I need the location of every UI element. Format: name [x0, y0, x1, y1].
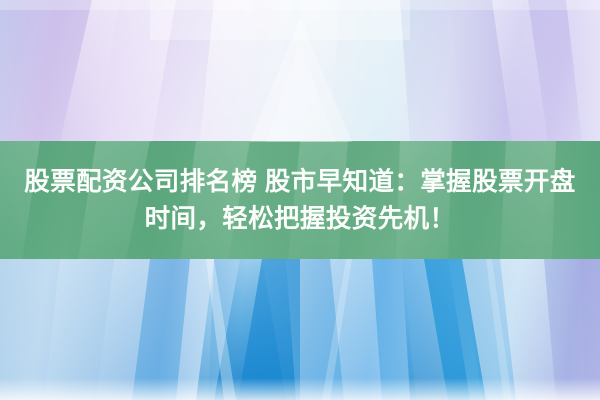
- bottom-haze-strip: [0, 378, 600, 400]
- promo-banner: 股票配资公司排名榜 股市早知道：掌握股票开盘 时间，轻松把握投资先机！: [0, 0, 600, 400]
- headline-line-1: 股票配资公司排名榜 股市早知道：掌握股票开盘: [24, 164, 575, 200]
- headline-line-2: 时间，轻松把握投资先机！: [145, 201, 456, 237]
- top-purple-zone: [0, 0, 600, 142]
- headline-block: 股票配资公司排名榜 股市早知道：掌握股票开盘 时间，轻松把握投资先机！: [0, 141, 600, 260]
